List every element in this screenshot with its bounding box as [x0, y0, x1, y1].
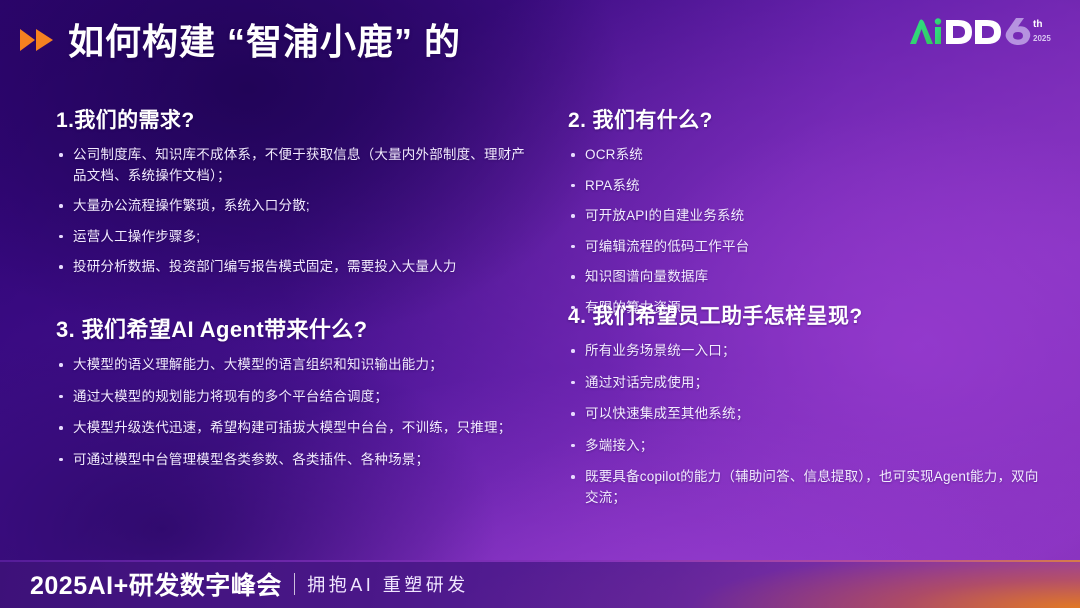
section-2-bullet-list: OCR系统 RPA系统 可开放API的自建业务系统 可编辑流程的低码工作平台 知…	[568, 145, 1052, 318]
list-item: 投研分析数据、投资部门编写报告模式固定，需要投入大量人力	[56, 257, 526, 278]
list-item: 大量办公流程操作繁琐，系统入口分散;	[56, 196, 526, 217]
list-item: 既要具备copilot的能力（辅助问答、信息提取），也可实现Agent能力，双向…	[568, 467, 1052, 508]
aidd-logo-mark: th 2025	[908, 14, 1056, 50]
list-item: 可编辑流程的低码工作平台	[568, 237, 1052, 258]
list-item: 多端接入；	[568, 436, 1052, 457]
slide-footer: 2025AI+研发数字峰会 拥抱AI 重塑研发	[0, 560, 1080, 608]
list-item: 通过大模型的规划能力将现有的多个平台结合调度；	[56, 387, 526, 408]
section-1-heading: 1.我们的需求?	[56, 104, 526, 134]
fast-forward-icon	[20, 28, 54, 52]
footer-separator	[294, 573, 296, 595]
section-4-heading: 4. 我们希望员工助手怎样呈现?	[568, 300, 1052, 330]
list-item: 可以快速集成至其他系统；	[568, 404, 1052, 425]
footer-content: 2025AI+研发数字峰会 拥抱AI 重塑研发	[30, 560, 469, 608]
list-item: 大模型的语义理解能力、大模型的语言组织和知识输出能力；	[56, 355, 526, 376]
list-item: 通过对话完成使用；	[568, 373, 1052, 394]
slide-root: 如何构建 “智浦小鹿” 的 th 2025 1.	[0, 0, 1080, 608]
section-3: 3. 我们希望AI Agent带来什么? 大模型的语义理解能力、大模型的语言组织…	[56, 294, 526, 544]
section-4-bullet-list: 所有业务场景统一入口； 通过对话完成使用； 可以快速集成至其他系统； 多端接入；…	[568, 341, 1052, 508]
list-item: 可通过模型中台管理模型各类参数、各类插件、各种场景；	[56, 450, 526, 471]
list-item: 可开放API的自建业务系统	[568, 206, 1052, 227]
page-title: 如何构建 “智浦小鹿” 的	[68, 13, 461, 65]
content-grid: 1.我们的需求? 公司制度库、知识库不成体系，不便于获取信息（大量内外部制度、理…	[0, 104, 1080, 544]
footer-event-title: 2025AI+研发数字峰会	[30, 566, 282, 602]
title-row: 如何构建 “智浦小鹿” 的	[20, 13, 461, 65]
footer-slogan: 拥抱AI 重塑研发	[307, 571, 469, 597]
list-item: OCR系统	[568, 145, 1052, 166]
list-item: RPA系统	[568, 176, 1052, 197]
section-2: 2. 我们有什么? OCR系统 RPA系统 可开放API的自建业务系统 可编辑流…	[562, 104, 1052, 294]
list-item: 公司制度库、知识库不成体系，不便于获取信息（大量内外部制度、理财产品文档、系统操…	[56, 145, 526, 186]
logo-th-text: th	[1033, 19, 1042, 30]
list-item: 运营人工操作步骤多;	[56, 227, 526, 248]
list-item: 大模型升级迭代迅速，希望构建可插拔大模型中台台，不训练，只推理；	[56, 418, 526, 439]
list-item: 所有业务场景统一入口；	[568, 341, 1052, 362]
section-4: 4. 我们希望员工助手怎样呈现? 所有业务场景统一入口； 通过对话完成使用； 可…	[562, 294, 1052, 544]
logo-year-text: 2025	[1033, 34, 1051, 43]
section-3-bullet-list: 大模型的语义理解能力、大模型的语言组织和知识输出能力； 通过大模型的规划能力将现…	[56, 355, 526, 470]
section-1: 1.我们的需求? 公司制度库、知识库不成体系，不便于获取信息（大量内外部制度、理…	[56, 104, 526, 294]
section-1-bullet-list: 公司制度库、知识库不成体系，不便于获取信息（大量内外部制度、理财产品文档、系统操…	[56, 145, 526, 278]
aidd-logo: th 2025	[908, 14, 1056, 48]
list-item: 知识图谱向量数据库	[568, 267, 1052, 288]
section-3-heading: 3. 我们希望AI Agent带来什么?	[56, 312, 526, 344]
section-2-heading: 2. 我们有什么?	[568, 104, 1052, 134]
